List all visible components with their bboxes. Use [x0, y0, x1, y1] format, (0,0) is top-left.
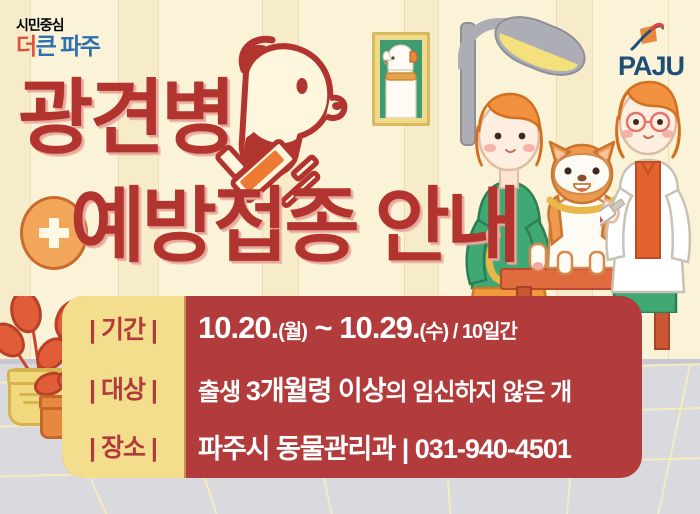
place-phone: 031-940-4501 — [415, 434, 571, 464]
city-logo-rest: 큰 파주 — [36, 33, 100, 59]
page-title-line2: 예방접종 안내 — [70, 186, 517, 268]
period-duration: / 10일간 — [448, 321, 517, 343]
info-row-place: | 장소 | 파주시 동물관리과 | 031-940-4501 — [62, 416, 642, 476]
period-start-day: (월) — [278, 321, 307, 343]
city-logo-prefix: 더 — [16, 33, 36, 59]
city-logo-sub: 시민중심 — [16, 18, 136, 32]
portrait-dog-icon — [380, 40, 422, 118]
framed-dog-portrait — [372, 32, 430, 126]
veterinarian-character — [600, 78, 696, 313]
place-office: 파주시 동물관리과 | — [198, 434, 415, 464]
info-label-period: | 기간 | — [62, 310, 184, 346]
period-end: 10.29. — [339, 310, 419, 345]
target-prefix: 출생 — [198, 379, 246, 406]
period-tilde: ~ — [307, 310, 339, 345]
city-logo: 시민중심 더큰 파주 — [16, 18, 136, 70]
paju-brand-logo: PAJU — [592, 22, 684, 82]
info-label-place: | 장소 | — [62, 428, 184, 464]
rabies-vaccination-poster: 광견병 예방접종 안내 시민중심 더큰 파주 — [0, 0, 700, 514]
paju-swoosh-icon — [630, 22, 664, 52]
info-value-period: 10.20.(월) ~ 10.29.(수) / 10일간 — [184, 310, 642, 346]
info-value-place: 파주시 동물관리과 | 031-940-4501 — [184, 427, 642, 466]
target-age: 3개월령 이상 — [246, 376, 386, 406]
info-row-target: | 대상 | 출생 3개월령 이상의 임신하지 않은 개 — [62, 358, 642, 418]
info-row-period: | 기간 | 10.20.(월) ~ 10.29.(수) / 10일간 — [62, 298, 642, 358]
info-label-target: | 대상 | — [62, 370, 184, 406]
info-panel: | 기간 | 10.20.(월) ~ 10.29.(수) / 10일간 | 대상… — [62, 296, 642, 478]
portrait-canvas — [380, 40, 422, 118]
period-start: 10.20. — [198, 310, 278, 345]
target-suffix: 의 임신하지 않은 개 — [386, 379, 572, 406]
info-value-target: 출생 3개월령 이상의 임신하지 않은 개 — [184, 369, 642, 408]
period-end-day: (수) — [419, 321, 448, 343]
paju-wordmark: PAJU — [618, 51, 684, 82]
city-logo-main: 더큰 파주 — [16, 34, 136, 58]
